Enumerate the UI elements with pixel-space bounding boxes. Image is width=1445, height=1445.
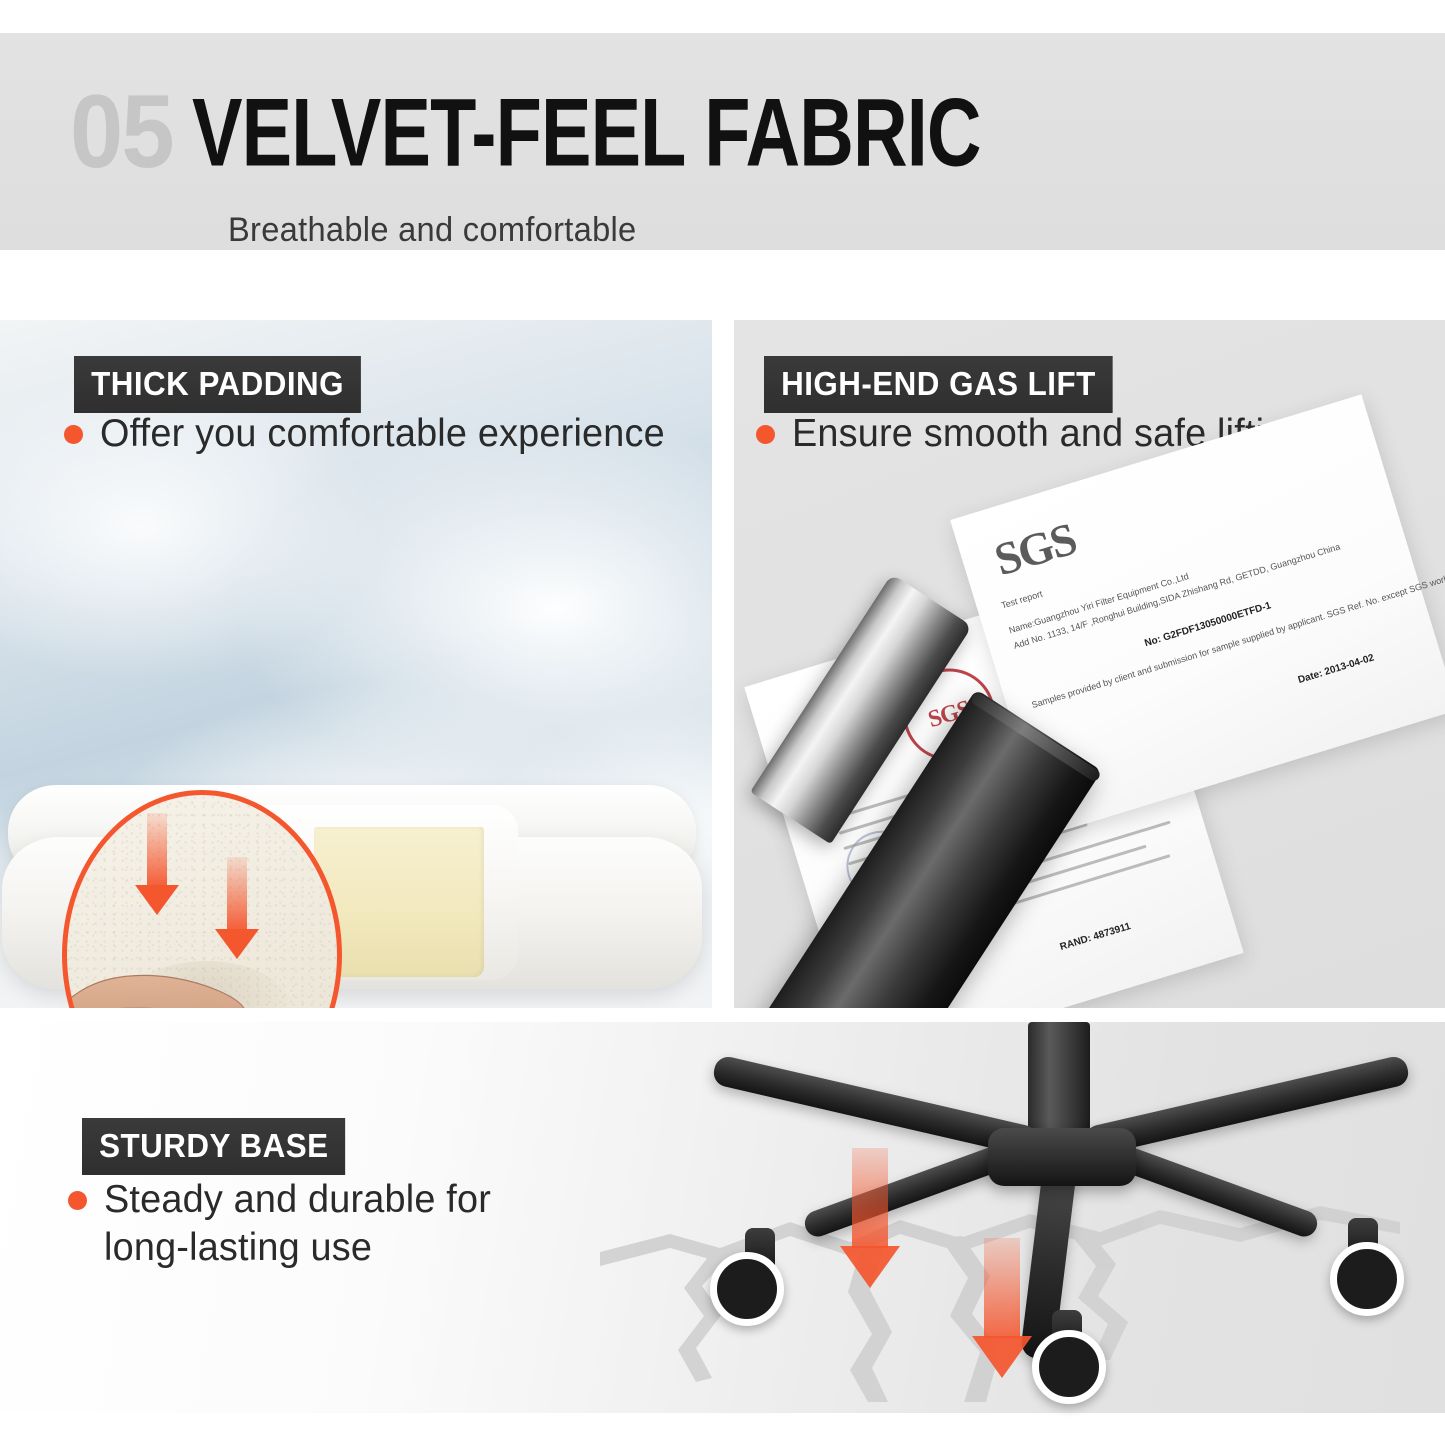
section-number: 05 xyxy=(70,85,173,181)
badge-gas-lift: HIGH-END GAS LIFT xyxy=(764,356,1113,413)
bullet-sturdy-base: Steady and durable for long-lasting use xyxy=(68,1176,588,1271)
panel-sturdy-base: STURDY BASE Steady and durable for long-… xyxy=(0,1022,1445,1413)
down-arrow-icon xyxy=(135,813,179,917)
bullet-text-thick-padding: Offer you comfortable experience xyxy=(100,410,665,458)
header-title-row: 05 VELVET-FEEL FABRIC xyxy=(70,85,1088,181)
badge-sturdy-base: STURDY BASE xyxy=(82,1118,346,1175)
foam-closeup-circle xyxy=(62,790,342,1008)
bullet-text-sturdy-base: Steady and durable for long-lasting use xyxy=(104,1176,491,1271)
bullet-thick-padding: Offer you comfortable experience xyxy=(64,410,684,458)
bullet-dot-icon xyxy=(64,425,83,444)
page-subtitle: Breathable and comfortable xyxy=(228,211,636,250)
bullet-line-1: Steady and durable for xyxy=(104,1178,491,1221)
page-header: 05 VELVET-FEEL FABRIC Breathable and com… xyxy=(0,33,1445,250)
bullet-line-2: long-lasting use xyxy=(104,1226,372,1269)
page-title: VELVET-FEEL FABRIC xyxy=(192,85,981,181)
cracked-ground-graphic xyxy=(600,1102,1400,1402)
bullet-dot-icon xyxy=(68,1191,87,1210)
bullet-dot-icon xyxy=(756,425,775,444)
hand-illustration xyxy=(62,945,271,1008)
gas-lift-cylinder xyxy=(764,460,1364,1008)
panel-gas-lift: HIGH-END GAS LIFT Ensure smooth and safe… xyxy=(734,320,1445,1008)
panel-thick-padding: THICK PADDING Offer you comfortable expe… xyxy=(0,320,712,1008)
badge-thick-padding: THICK PADDING xyxy=(74,356,361,413)
